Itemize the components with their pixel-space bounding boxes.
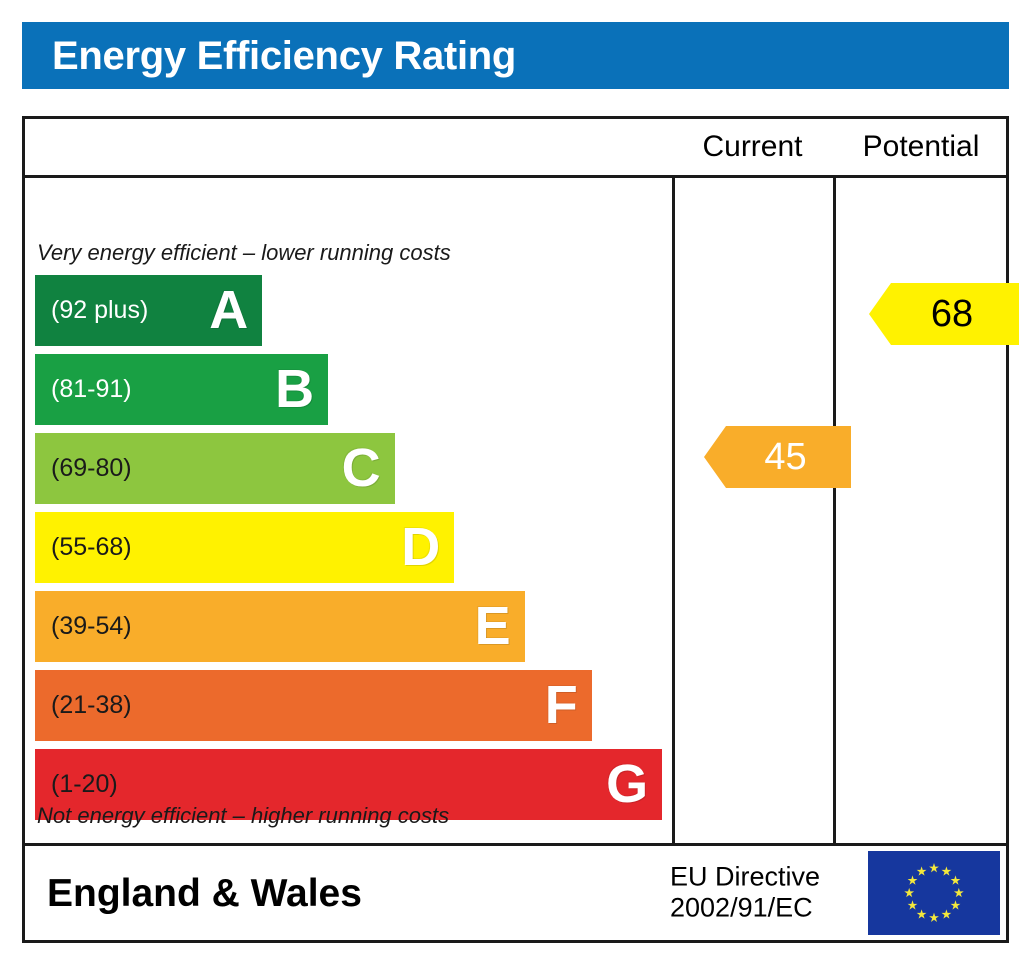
energy-efficiency-certificate: Energy Efficiency Rating Current Potenti… [0, 0, 1031, 966]
band-letter-label: E [475, 598, 511, 652]
column-header-current: Current [672, 119, 833, 175]
potential-rating-arrow: 68 [869, 283, 1019, 345]
band-range-label: (21-38) [35, 693, 132, 718]
eu-flag-icon [866, 849, 1002, 937]
current-rating-value: 45 [748, 438, 806, 476]
column-header-potential: Potential [836, 119, 1006, 175]
band-range-label: (92 plus) [35, 298, 148, 323]
rating-band-f: (21-38)F [35, 670, 592, 741]
footer-directive-label: EU Directive 2002/91/EC [670, 862, 820, 925]
band-letter-label: A [209, 282, 248, 336]
caption-inefficient: Not energy efficient – higher running co… [37, 803, 449, 829]
chart-body: Very energy efficient – lower running co… [25, 178, 1006, 843]
band-range-label: (81-91) [35, 377, 132, 402]
potential-rating-value: 68 [915, 295, 973, 333]
band-range-label: (39-54) [35, 614, 132, 639]
current-rating-arrow: 45 [704, 426, 851, 488]
band-letter-label: F [545, 677, 578, 731]
band-range-label: (55-68) [35, 535, 132, 560]
rating-band-b: (81-91)B [35, 354, 328, 425]
directive-line-1: EU Directive [670, 862, 820, 893]
certificate-footer: England & Wales EU Directive 2002/91/EC [25, 843, 1006, 940]
band-letter-label: C [342, 440, 381, 494]
rating-band-e: (39-54)E [35, 591, 525, 662]
rating-bands: (92 plus)A(81-91)B(69-80)C(55-68)D(39-54… [35, 275, 675, 828]
page-title: Energy Efficiency Rating [22, 36, 516, 76]
table-header-row: Current Potential [25, 119, 1006, 178]
rating-band-c: (69-80)C [35, 433, 395, 504]
chart-title-bar: Energy Efficiency Rating [22, 22, 1009, 89]
rating-table: Current Potential Very energy efficient … [22, 116, 1009, 943]
rating-band-d: (55-68)D [35, 512, 454, 583]
band-letter-label: D [401, 519, 440, 573]
band-letter-label: G [606, 756, 648, 810]
rating-band-a: (92 plus)A [35, 275, 262, 346]
band-range-label: (69-80) [35, 456, 132, 481]
footer-region-label: England & Wales [25, 874, 362, 913]
directive-line-2: 2002/91/EC [670, 893, 820, 924]
caption-efficient: Very energy efficient – lower running co… [37, 240, 451, 266]
band-range-label: (1-20) [35, 772, 118, 797]
band-letter-label: B [275, 361, 314, 415]
